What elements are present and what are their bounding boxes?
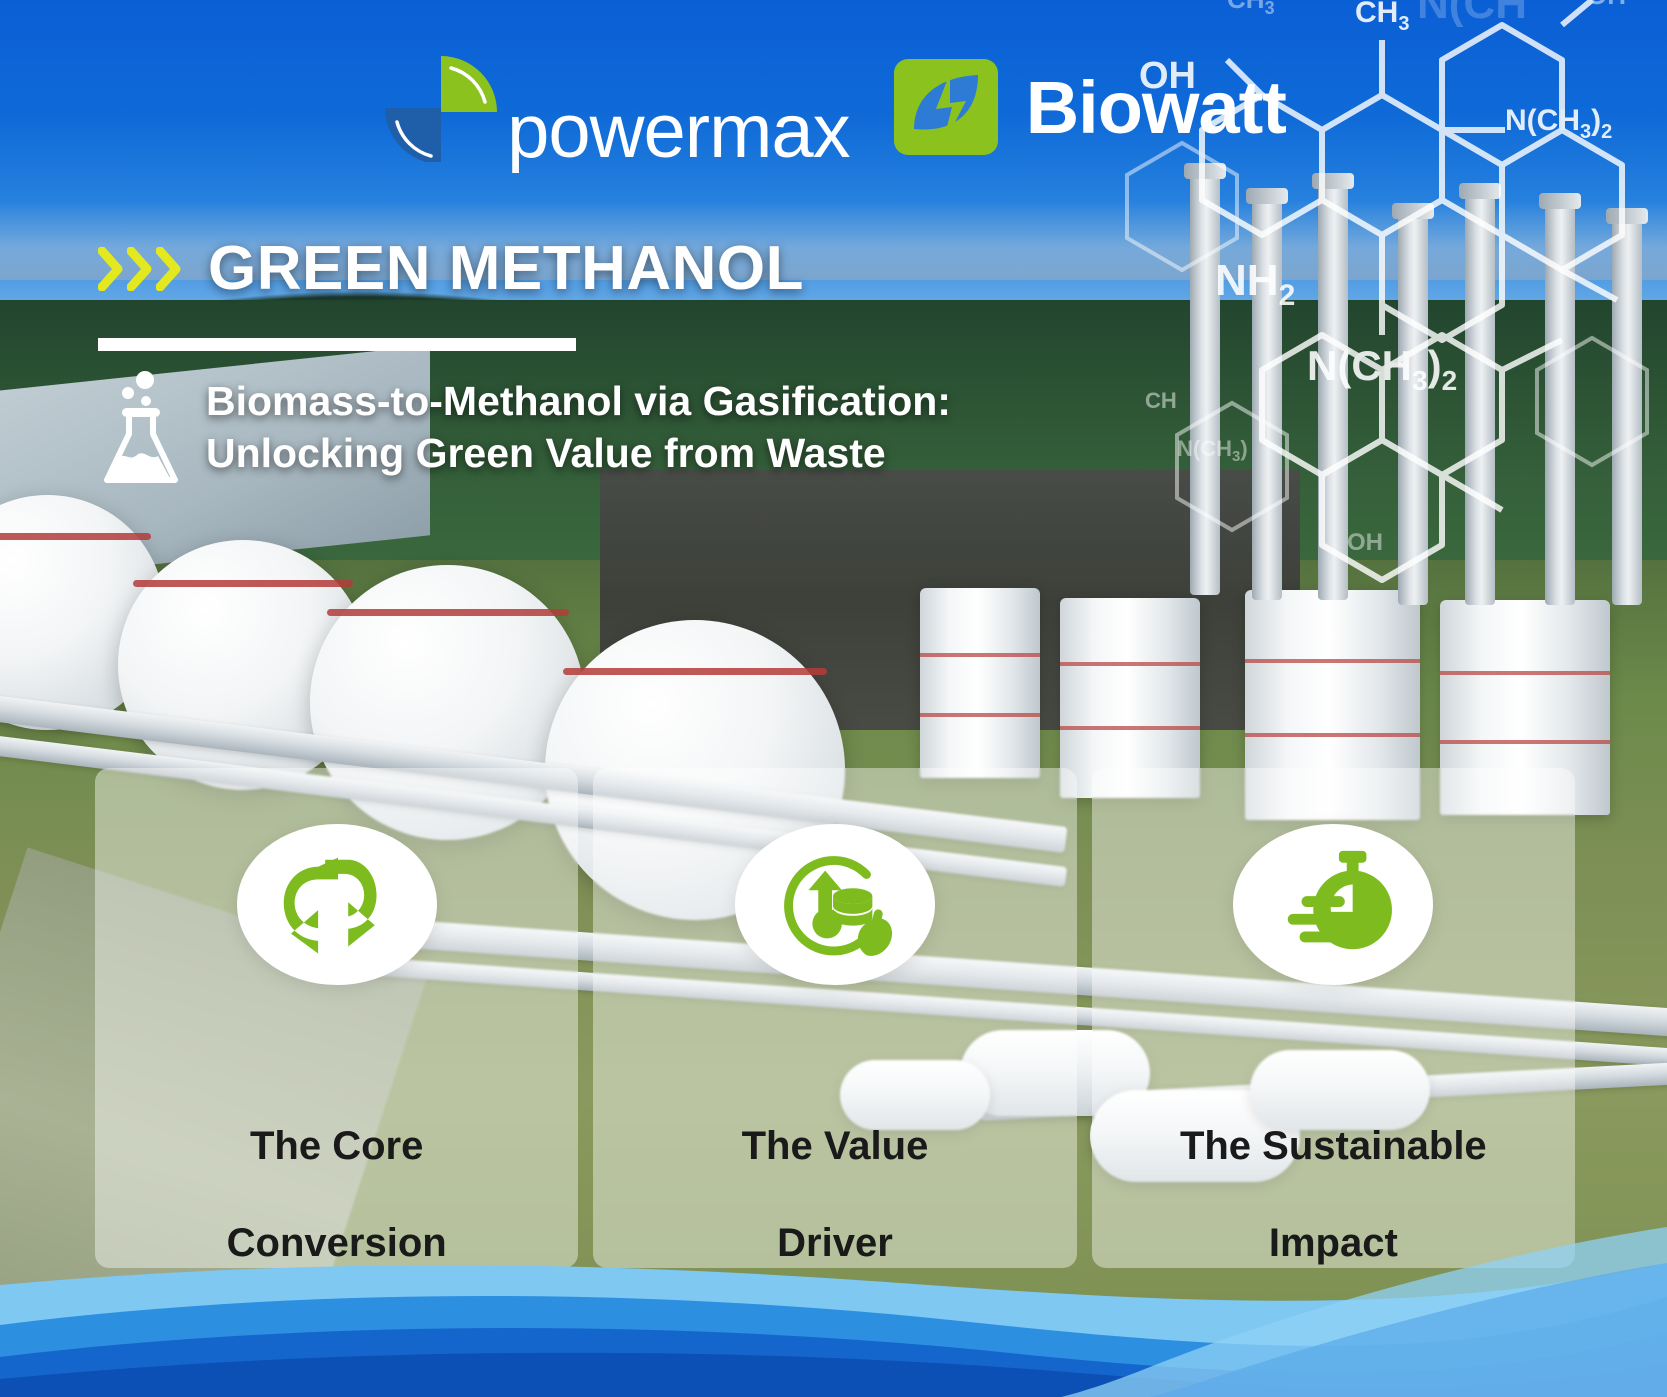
distillation-column [1252, 200, 1282, 600]
biowatt-wordmark: Biowatt [1026, 65, 1286, 150]
card-value-driver[interactable]: The Value Driver [593, 768, 1076, 1268]
subtitle-line-1: Biomass-to-Methanol via Gasification: [206, 375, 951, 427]
card-label-line1: The Sustainable [1180, 1124, 1487, 1168]
card-label: The Value Driver [728, 1073, 943, 1268]
card-icon-badge [237, 824, 437, 985]
fast-stopwatch-speed-icon [1274, 845, 1392, 963]
distillation-column [1612, 220, 1642, 605]
feature-card-row: The Core Conversion The Value Driver [95, 768, 1575, 1268]
distillation-column [1398, 215, 1428, 605]
biowatt-logo[interactable]: Biowatt [892, 57, 1286, 157]
card-core-conversion[interactable]: The Core Conversion [95, 768, 578, 1268]
subtitle-row: Biomass-to-Methanol via Gasification: Un… [98, 368, 951, 486]
subtitle-line-2: Unlocking Green Value from Waste [206, 427, 951, 479]
card-icon-badge [1233, 824, 1433, 985]
infographic-poster: OH CH3 N(CH3)2 NH2 N(CH3)2 CH3 OH CH N(C… [0, 0, 1667, 1397]
card-icon-badge [735, 824, 935, 985]
title-row: GREEN METHANOL [98, 238, 804, 300]
distillation-column [1465, 195, 1495, 605]
biowatt-logo-mark [892, 57, 1000, 157]
card-label: The Core Conversion [213, 1073, 461, 1268]
card-label-line2: Driver [777, 1221, 893, 1265]
powermax-logo-mark [381, 52, 501, 162]
card-label-line1: The Value [742, 1124, 929, 1168]
brand-logo-row: powermax Biowatt [0, 52, 1667, 162]
distillation-column [1545, 205, 1575, 605]
triple-chevron-right-icon [98, 247, 182, 291]
distillation-column [1318, 185, 1348, 600]
conversion-recycle-arrows-icon [278, 845, 396, 963]
card-label-line2: Conversion [227, 1221, 447, 1265]
card-label: The Sustainable Impact [1166, 1073, 1501, 1268]
page-subtitle: Biomass-to-Methanol via Gasification: Un… [206, 375, 951, 480]
storage-tank [920, 588, 1040, 778]
distillation-column [1190, 175, 1220, 595]
page-title: GREEN METHANOL [208, 238, 804, 300]
card-sustainable-impact[interactable]: The Sustainable Impact [1092, 768, 1575, 1268]
title-divider-rule [98, 338, 576, 351]
card-label-line2: Impact [1269, 1221, 1398, 1265]
powermax-wordmark: powermax [507, 96, 850, 168]
powermax-logo[interactable]: powermax [381, 52, 850, 162]
value-growth-coins-leaf-icon [776, 845, 894, 963]
card-label-line1: The Core [250, 1124, 423, 1168]
erlenmeyer-flask-icon [98, 368, 184, 486]
